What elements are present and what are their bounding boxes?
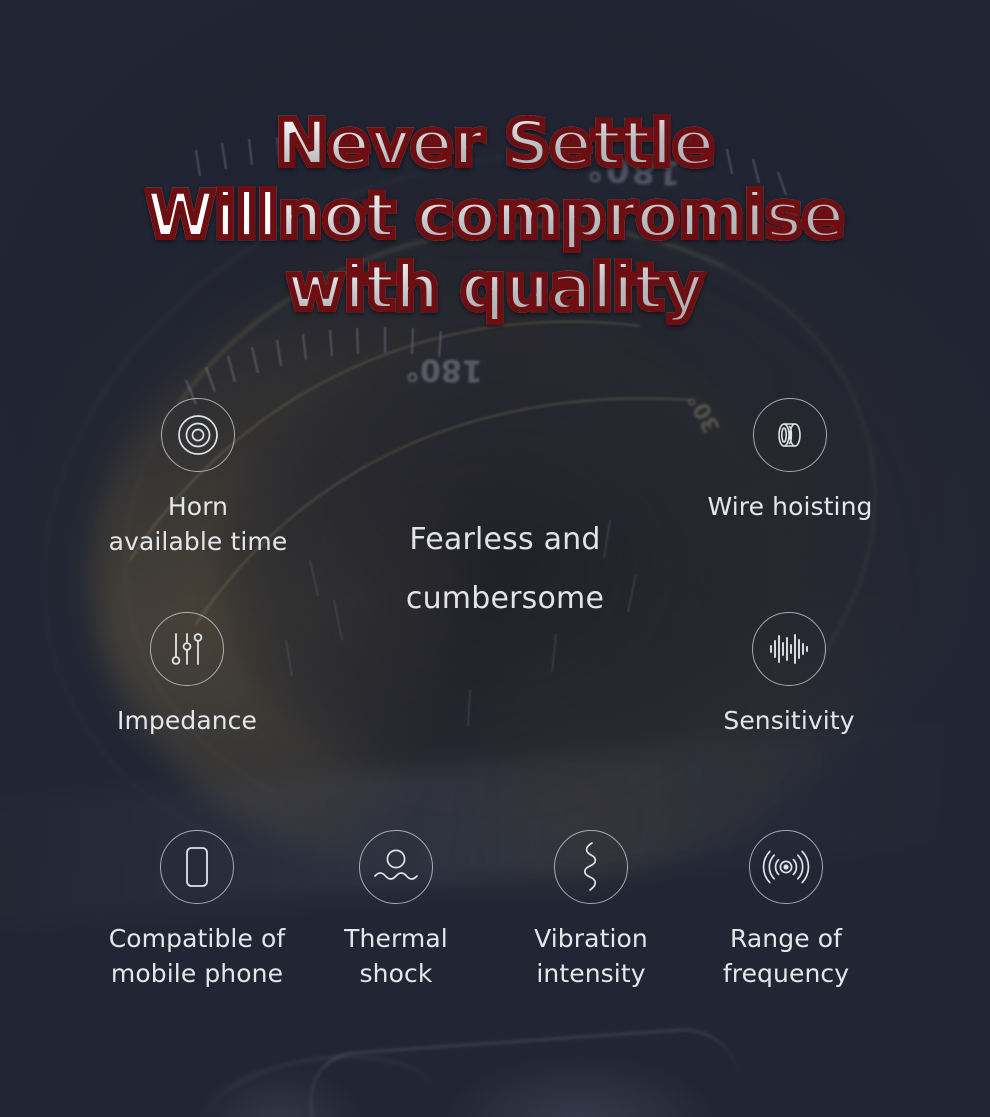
- feature-thermal-shock: Thermal shock: [322, 830, 470, 991]
- concentric-circles-icon: [175, 412, 221, 458]
- center-tagline-line-1: Fearless and: [355, 510, 655, 569]
- sliders-icon: [170, 630, 204, 668]
- feature-label: Vibration intensity: [512, 921, 670, 991]
- feature-icon-frame: [753, 398, 827, 472]
- promo-banner: 180° 180° 30° Never Settle Will not comp…: [0, 0, 990, 1117]
- headline-line-2: Will not compromise: [0, 180, 990, 252]
- headline-emphasis: Will: [146, 180, 278, 252]
- waveform-icon: [768, 632, 810, 666]
- feature-label: Compatible of mobile phone: [83, 921, 311, 991]
- feature-vibration-intensity: Vibration intensity: [512, 830, 670, 991]
- signal-waves-icon: [762, 847, 810, 887]
- feature-sensitivity: Sensitivity: [700, 612, 878, 738]
- feature-wire-hoisting: Wire hoisting: [690, 398, 890, 524]
- headline-line-3: with quality: [0, 252, 990, 324]
- feature-horn-available-time: Horn available time: [96, 398, 300, 559]
- center-tagline-line-2: cumbersome: [355, 569, 655, 628]
- mobile-phone-icon: [183, 846, 211, 888]
- feature-label: Impedance: [100, 703, 274, 738]
- feature-impedance: Impedance: [100, 612, 274, 738]
- feature-icon-frame: [161, 398, 235, 472]
- zigzag-wave-icon: [578, 842, 604, 892]
- feature-icon-frame: [749, 830, 823, 904]
- feature-icon-frame: [160, 830, 234, 904]
- feature-label: Horn available time: [96, 489, 300, 559]
- feature-label: Range of frequency: [706, 921, 866, 991]
- feature-icon-frame: [150, 612, 224, 686]
- feature-icon-frame: [752, 612, 826, 686]
- feature-label: Thermal shock: [322, 921, 470, 991]
- feature-compatible-mobile-phone: Compatible of mobile phone: [83, 830, 311, 991]
- center-tagline: Fearless and cumbersome: [355, 510, 655, 628]
- feature-range-of-frequency: Range of frequency: [706, 830, 866, 991]
- headline-line-1: Never Settle: [0, 108, 990, 180]
- feature-icon-frame: [554, 830, 628, 904]
- headline: Never Settle Will not compromise with qu…: [0, 108, 990, 324]
- sun-water-icon: [372, 845, 420, 889]
- feature-label: Wire hoisting: [690, 489, 890, 524]
- wire-coil-icon: [770, 415, 810, 455]
- feature-label: Sensitivity: [700, 703, 878, 738]
- feature-icon-frame: [359, 830, 433, 904]
- background-dial-number-mid: 180°: [405, 351, 483, 387]
